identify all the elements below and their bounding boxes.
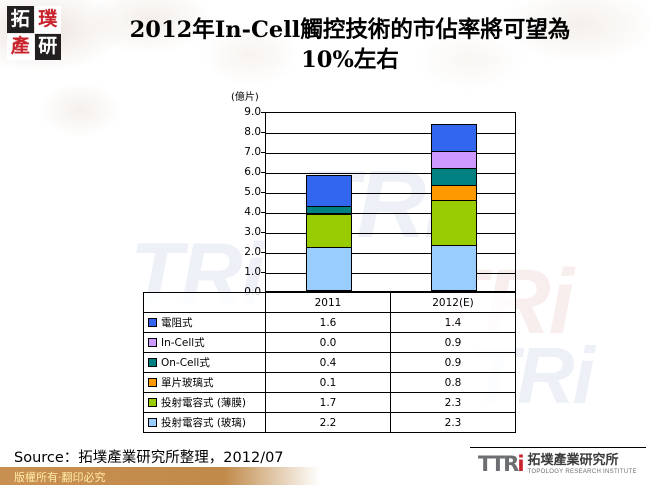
table-row: 單片玻璃式0.10.8	[144, 373, 516, 393]
legend-item: 單片玻璃式	[144, 373, 266, 393]
logo-char-2: 璞	[35, 6, 62, 33]
table-cell-value: 1.4	[391, 313, 516, 333]
y-tick-label: 9.0	[244, 106, 261, 118]
y-tick-label: 1.0	[244, 266, 261, 278]
table-header-cell: 2012(E)	[391, 293, 516, 313]
y-tick-label: 4.0	[244, 206, 261, 218]
legend-item: 電阻式	[144, 313, 266, 333]
tri-wordmark: TTRi	[478, 454, 523, 475]
chart-y-axis: 9.08.07.06.05.04.03.02.01.00.0	[225, 112, 265, 292]
bar-segment	[431, 200, 477, 246]
grid-line	[266, 253, 515, 254]
data-table: 20112012(E)電阻式1.61.4In-Cell式0.00.9On-Cel…	[143, 292, 516, 433]
grid-line	[266, 213, 515, 214]
logo-char-4: 研	[35, 34, 62, 61]
tri-logo-mark: 拓 璞 產 研	[7, 6, 61, 60]
grid-line	[266, 193, 515, 194]
y-tick-label: 2.0	[244, 246, 261, 258]
table-row: 投射電容式 (薄膜)1.72.3	[144, 393, 516, 413]
legend-item: In-Cell式	[144, 333, 266, 353]
tri-logo-en: TOPOLOGY RESEARCH INSTITUTE	[528, 469, 637, 475]
legend-swatch-icon	[148, 358, 157, 367]
table-cell-value: 0.4	[266, 353, 391, 373]
bar-segment	[306, 175, 352, 207]
table-row: 電阻式1.61.4	[144, 313, 516, 333]
table-header-cell: 2011	[266, 293, 391, 313]
bar-stack	[306, 175, 352, 291]
legend-swatch-icon	[148, 338, 157, 347]
table-cell-value: 2.2	[266, 413, 391, 433]
table-row: 投射電容式 (玻璃)2.22.3	[144, 413, 516, 433]
legend-label: 單片玻璃式	[161, 377, 214, 389]
chart-plot-area	[265, 112, 516, 292]
bar-segment	[431, 124, 477, 152]
legend-label: On-Cell式	[161, 357, 210, 369]
tri-logo-text: 拓墣產業研究所 TOPOLOGY RESEARCH INSTITUTE	[528, 454, 637, 475]
grid-line	[266, 153, 515, 154]
table-cell-value: 0.1	[266, 373, 391, 393]
bar-segment	[306, 214, 352, 248]
logo-char-1: 拓	[7, 6, 34, 33]
legend-item: 投射電容式 (薄膜)	[144, 393, 266, 413]
grid-line	[266, 173, 515, 174]
copyright-text: 版權所有‧翻印必究	[14, 469, 106, 485]
table-header-cell	[144, 293, 266, 313]
bar-segment	[431, 168, 477, 186]
page-title: 2012年In-Cell觸控技術的市佔率將可望為 10%左右	[70, 16, 630, 75]
table-cell-value: 0.0	[266, 333, 391, 353]
table-row: On-Cell式0.40.9	[144, 353, 516, 373]
footer-rule	[470, 447, 646, 448]
bar-segment	[431, 245, 477, 291]
legend-item: 投射電容式 (玻璃)	[144, 413, 266, 433]
grid-line	[266, 133, 515, 134]
y-tick-label: 7.0	[244, 146, 261, 158]
table-cell-value: 1.6	[266, 313, 391, 333]
legend-swatch-icon	[148, 318, 157, 327]
grid-line	[266, 273, 515, 274]
y-tick-label: 6.0	[244, 166, 261, 178]
bar-stack	[431, 124, 477, 291]
y-tick-label: 8.0	[244, 126, 261, 138]
y-tick-label: 5.0	[244, 186, 261, 198]
bar-segment	[306, 247, 352, 291]
logo-char-3: 產	[7, 34, 34, 61]
table-row: In-Cell式0.00.9	[144, 333, 516, 353]
tri-institute-logo: TTRi 拓墣產業研究所 TOPOLOGY RESEARCH INSTITUTE	[478, 454, 637, 475]
chart-unit-label: (億片)	[231, 88, 259, 103]
bar-segment	[431, 185, 477, 201]
y-tick-label: 3.0	[244, 226, 261, 238]
table-cell-value: 0.9	[391, 333, 516, 353]
chart-plot-frame	[265, 112, 516, 292]
legend-label: 投射電容式 (薄膜)	[161, 397, 246, 409]
bar-segment	[431, 151, 477, 169]
legend-swatch-icon	[148, 418, 157, 427]
slide-root: TRi TRi TRi TRi 拓 璞 產 研 2012年In-Cell觸控技術…	[0, 0, 650, 485]
legend-swatch-icon	[148, 398, 157, 407]
legend-label: In-Cell式	[161, 337, 205, 349]
table-cell-value: 0.8	[391, 373, 516, 393]
table-header-row: 20112012(E)	[144, 293, 516, 313]
legend-label: 電阻式	[161, 317, 193, 329]
legend-label: 投射電容式 (玻璃)	[161, 417, 246, 429]
legend-item: On-Cell式	[144, 353, 266, 373]
grid-line	[266, 233, 515, 234]
table-cell-value: 2.3	[391, 393, 516, 413]
table-cell-value: 0.9	[391, 353, 516, 373]
table-cell-value: 2.3	[391, 413, 516, 433]
source-note: Source：拓墣產業研究所整理，2012/07	[14, 446, 284, 467]
legend-swatch-icon	[148, 378, 157, 387]
tri-logo-cn: 拓墣產業研究所	[528, 454, 637, 467]
page-title-line-2: 10%左右	[70, 46, 630, 76]
table-cell-value: 1.7	[266, 393, 391, 413]
copyright-bar: 版權所有‧翻印必究	[0, 467, 320, 485]
page-title-line-1: 2012年In-Cell觸控技術的市佔率將可望為	[70, 16, 630, 46]
